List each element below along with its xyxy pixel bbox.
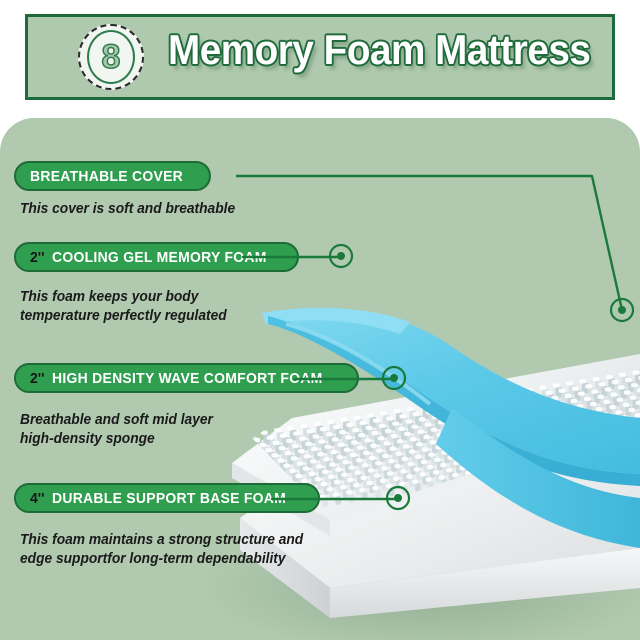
callout-label-text: COOLING GEL MEMORY FOAM [52, 249, 267, 266]
callout-label-high-density-wave-comfort-foam[interactable]: 2'' HIGH DENSITY WAVE COMFORT FOAM [14, 363, 359, 393]
infographic-root: 8 Memory Foam Mattress [0, 0, 640, 640]
step-number-badge: 8 [78, 24, 144, 90]
callout-label-breathable-cover[interactable]: BREATHABLE COVER [14, 161, 211, 191]
callout-desc-high-density-wave-comfort-foam: Breathable and soft mid layer high-densi… [20, 411, 267, 449]
callout-desc-cooling-gel-memory-foam: This foam keeps your body temperature pe… [20, 288, 258, 326]
callout-label-text: HIGH DENSITY WAVE COMFORT FOAM [52, 370, 323, 387]
step-number-badge-inner: 8 [87, 30, 135, 84]
callout-desc-durable-support-base-foam: This foam maintains a strong structure a… [20, 531, 305, 569]
callout-label-text: DURABLE SUPPORT BASE FOAM [52, 490, 286, 507]
callout-thickness: 2'' [30, 249, 44, 266]
callout-desc-breathable-cover: This cover is soft and breathable [20, 200, 296, 219]
callout-label-durable-support-base-foam[interactable]: 4'' DURABLE SUPPORT BASE FOAM [14, 483, 320, 513]
callout-label-cooling-gel-memory-foam[interactable]: 2'' COOLING GEL MEMORY FOAM [14, 242, 299, 272]
callout-thickness: 4'' [30, 490, 44, 507]
main-panel: BREATHABLE COVER This cover is soft and … [0, 118, 640, 640]
callout-thickness: 2'' [30, 370, 44, 387]
step-number: 8 [102, 40, 121, 74]
page-title: Memory Foam Mattress [168, 26, 590, 74]
callout-label-text: BREATHABLE COVER [30, 168, 183, 185]
